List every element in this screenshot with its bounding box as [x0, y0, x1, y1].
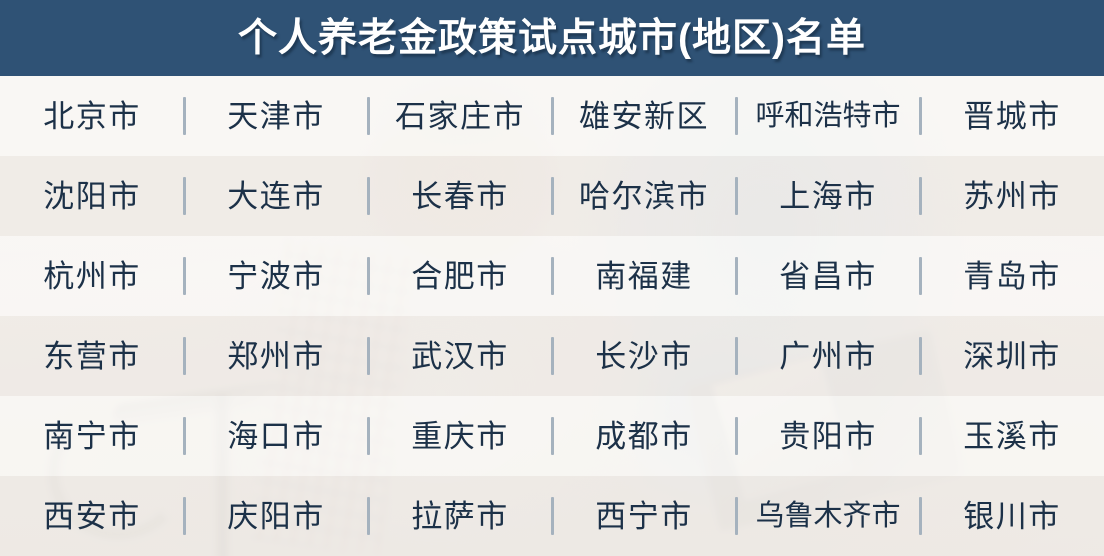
table-cell: 宁波市 — [184, 236, 368, 316]
table-cell: 拉萨市 — [368, 476, 552, 556]
table-cell: 大连市 — [184, 156, 368, 236]
table-cell: 贵阳市 — [736, 396, 920, 476]
table-cell: 郑州市 — [184, 316, 368, 396]
table-cell: 长春市 — [368, 156, 552, 236]
table-row: 南宁市 海口市 重庆市 成都市 贵阳市 玉溪市 — [0, 396, 1104, 476]
page-title: 个人养老金政策试点城市(地区)名单 — [238, 19, 866, 58]
city-name: 长沙市 — [595, 341, 693, 372]
city-name: 石家庄市 — [395, 101, 525, 132]
table-cell: 天津市 — [184, 76, 368, 156]
title-banner: 个人养老金政策试点城市(地区)名单 — [0, 0, 1104, 76]
table-cell: 沈阳市 — [0, 156, 184, 236]
city-name: 晋城市 — [963, 101, 1061, 132]
city-name: 苏州市 — [963, 181, 1061, 212]
city-name: 拉萨市 — [411, 501, 509, 532]
city-name: 玉溪市 — [963, 421, 1061, 452]
city-name: 南福建 — [595, 261, 693, 292]
city-name: 贵阳市 — [779, 421, 877, 452]
city-name: 宁波市 — [227, 261, 325, 292]
city-name: 西安市 — [43, 501, 141, 532]
poster: 个人养老金政策试点城市(地区)名单 北京市 天津市 石家庄市 雄安新区 呼和浩特… — [0, 0, 1104, 556]
city-name: 北京市 — [43, 101, 141, 132]
city-name: 上海市 — [779, 181, 877, 212]
table-cell: 海口市 — [184, 396, 368, 476]
table-row: 西安市 庆阳市 拉萨市 西宁市 乌鲁木齐市 银川市 — [0, 476, 1104, 556]
table-cell: 合肥市 — [368, 236, 552, 316]
table-cell: 乌鲁木齐市 — [736, 476, 920, 556]
city-name: 雄安新区 — [579, 101, 709, 132]
city-name: 海口市 — [227, 421, 325, 452]
table-cell: 南福建 — [552, 236, 736, 316]
city-name: 重庆市 — [411, 421, 509, 452]
city-name: 天津市 — [227, 101, 325, 132]
table-cell: 长沙市 — [552, 316, 736, 396]
city-name: 哈尔滨市 — [579, 181, 709, 212]
table-cell: 呼和浩特市 — [736, 76, 920, 156]
city-name: 呼和浩特市 — [755, 102, 900, 131]
table-row: 东营市 郑州市 武汉市 长沙市 广州市 深圳市 — [0, 316, 1104, 396]
table-cell: 庆阳市 — [184, 476, 368, 556]
city-name: 东营市 — [43, 341, 141, 372]
city-name: 大连市 — [227, 181, 325, 212]
table-cell: 雄安新区 — [552, 76, 736, 156]
table-cell: 北京市 — [0, 76, 184, 156]
city-name: 深圳市 — [963, 341, 1061, 372]
table-cell: 玉溪市 — [920, 396, 1104, 476]
table-row: 杭州市 宁波市 合肥市 南福建 省昌市 青岛市 — [0, 236, 1104, 316]
table-cell: 东营市 — [0, 316, 184, 396]
table-cell: 苏州市 — [920, 156, 1104, 236]
table-cell: 石家庄市 — [368, 76, 552, 156]
city-name: 杭州市 — [43, 261, 141, 292]
city-name: 广州市 — [779, 341, 877, 372]
city-name: 银川市 — [963, 501, 1061, 532]
table-row: 北京市 天津市 石家庄市 雄安新区 呼和浩特市 晋城市 — [0, 76, 1104, 156]
table-cell: 重庆市 — [368, 396, 552, 476]
table-cell: 成都市 — [552, 396, 736, 476]
city-name: 西宁市 — [595, 501, 693, 532]
table-cell: 广州市 — [736, 316, 920, 396]
city-name: 长春市 — [411, 181, 509, 212]
city-name: 省昌市 — [779, 261, 877, 292]
table-cell: 西宁市 — [552, 476, 736, 556]
city-name: 成都市 — [595, 421, 693, 452]
table-cell: 哈尔滨市 — [552, 156, 736, 236]
table-cell: 武汉市 — [368, 316, 552, 396]
table-cell: 西安市 — [0, 476, 184, 556]
city-name: 南宁市 — [43, 421, 141, 452]
table-cell: 青岛市 — [920, 236, 1104, 316]
table-cell: 省昌市 — [736, 236, 920, 316]
city-name: 合肥市 — [411, 261, 509, 292]
table-cell: 银川市 — [920, 476, 1104, 556]
table-cell: 杭州市 — [0, 236, 184, 316]
city-name: 庆阳市 — [227, 501, 325, 532]
city-name: 武汉市 — [411, 341, 509, 372]
city-name: 沈阳市 — [43, 181, 141, 212]
table-cell: 深圳市 — [920, 316, 1104, 396]
city-name: 青岛市 — [963, 261, 1061, 292]
table-cell: 上海市 — [736, 156, 920, 236]
table-cell: 南宁市 — [0, 396, 184, 476]
city-list-table: 北京市 天津市 石家庄市 雄安新区 呼和浩特市 晋城市 沈阳市 大连市 长春市 … — [0, 76, 1104, 556]
city-name: 郑州市 — [227, 341, 325, 372]
table-row: 沈阳市 大连市 长春市 哈尔滨市 上海市 苏州市 — [0, 156, 1104, 236]
city-name: 乌鲁木齐市 — [755, 502, 900, 531]
table-cell: 晋城市 — [920, 76, 1104, 156]
